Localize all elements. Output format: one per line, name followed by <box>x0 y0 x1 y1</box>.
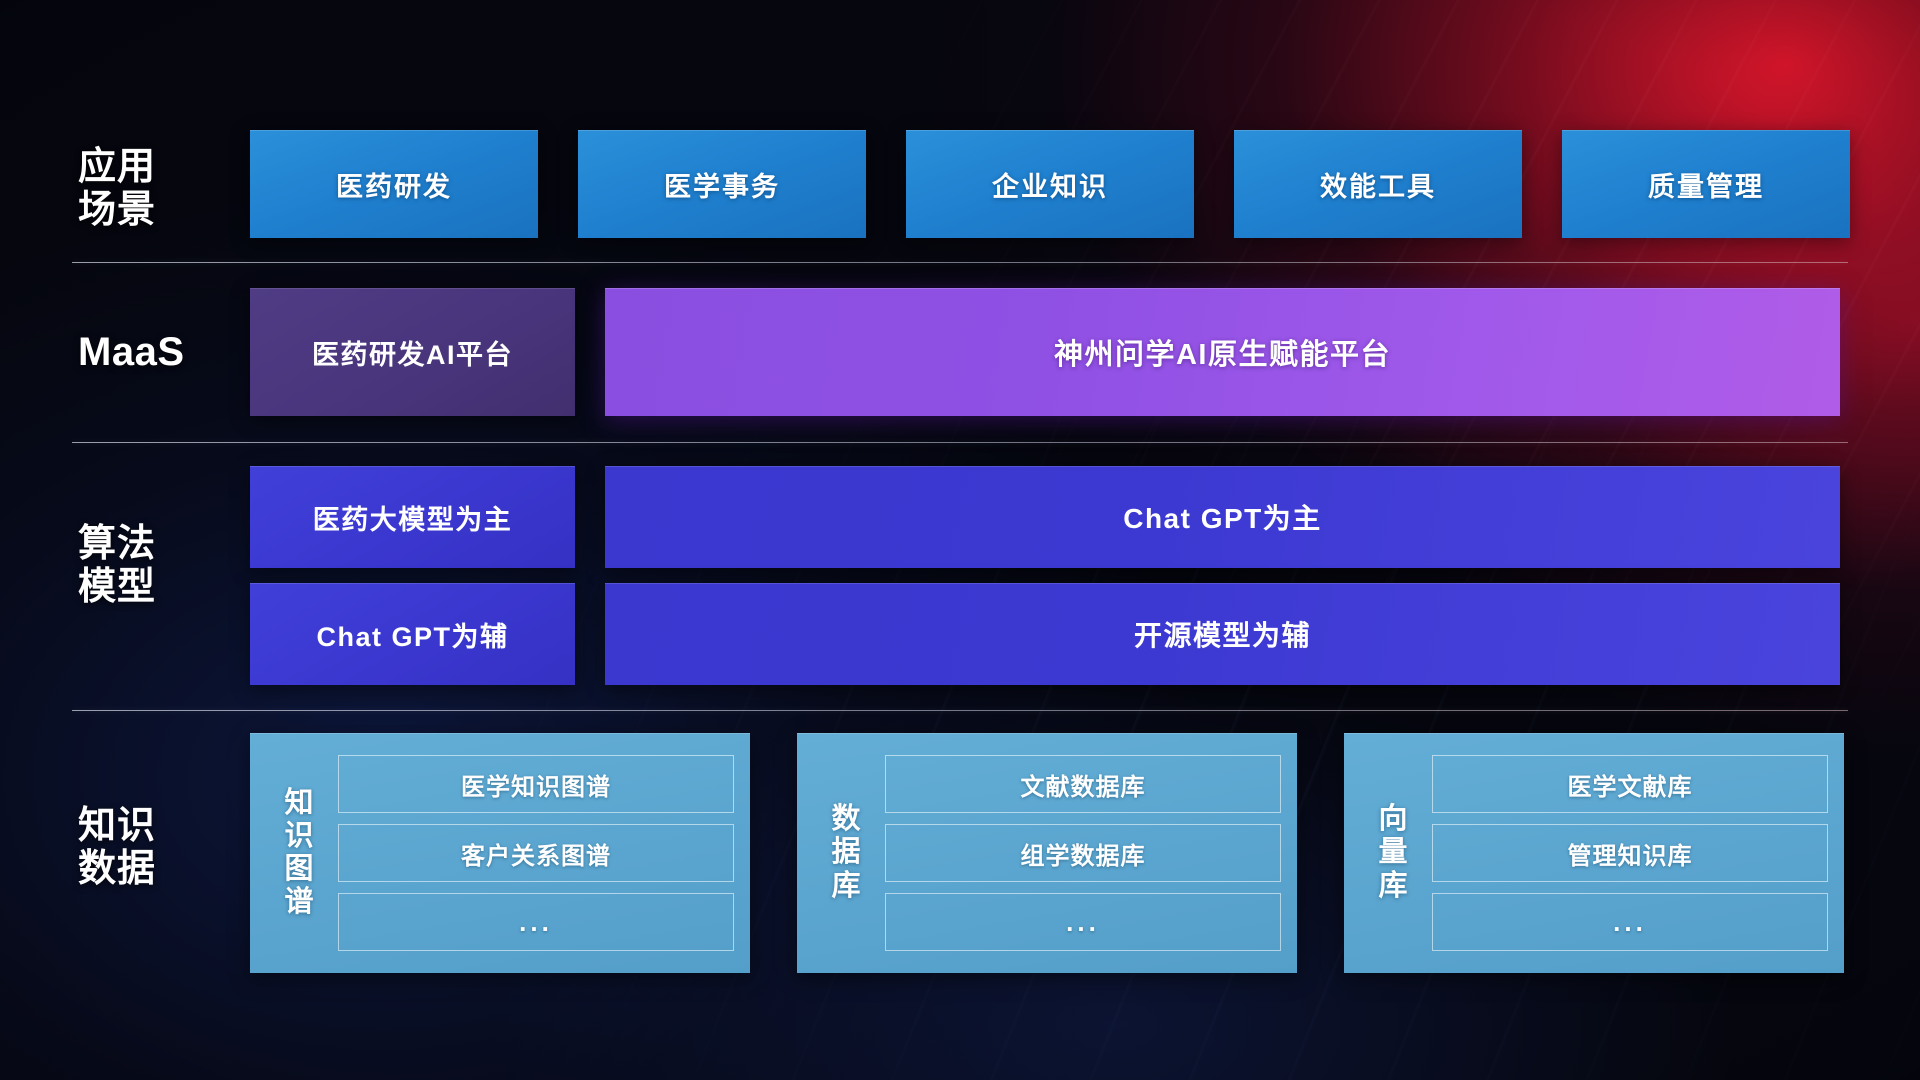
application-box-track: 医药研发 医学事务 企业知识 效能工具 质量管理 <box>250 130 1850 238</box>
knowledge-item-list: 医学文献库 管理知识库 ... <box>1432 747 1828 959</box>
tier-label-line-1: 算法 <box>78 523 210 566</box>
vlabel-char: 据 <box>831 836 860 869</box>
tier-label-algorithm-models: 算法 模型 <box>78 523 210 608</box>
tier-algorithm-models: 算法 模型 医药大模型为主 Chat GPT为主 Chat GPT为辅 开源模型… <box>0 466 1920 688</box>
knowledge-item-literature-database[interactable]: 文献数据库 <box>885 755 1281 813</box>
vlabel-char: 量 <box>1378 836 1407 869</box>
app-box-enterprise-knowledge[interactable]: 企业知识 <box>906 130 1194 238</box>
tier-label-application-scenarios: 应用 场景 <box>78 146 210 231</box>
maas-box-shenzhou-wenxue-platform[interactable]: 神州问学AI原生赋能平台 <box>605 288 1840 416</box>
tier-label-line-1: 知识 <box>78 805 210 848</box>
algo-box-drug-large-model-primary[interactable]: 医药大模型为主 <box>250 466 575 568</box>
knowledge-item-management-knowledge-store[interactable]: 管理知识库 <box>1432 824 1828 882</box>
vlabel-char: 库 <box>831 870 860 903</box>
knowledge-panel-label-knowledge-graph: 知 识 图 谱 <box>260 747 338 959</box>
knowledge-item-list: 文献数据库 组学数据库 ... <box>885 747 1281 959</box>
vlabel-char: 库 <box>1378 870 1407 903</box>
tier-label-maas: MaaS <box>78 330 210 375</box>
tier-label-line-2: 模型 <box>78 566 210 609</box>
vlabel-char: 知 <box>284 787 313 820</box>
knowledge-panel-vector-store: 向 量 库 医学文献库 管理知识库 ... <box>1344 733 1844 973</box>
knowledge-item-medical-knowledge-graph[interactable]: 医学知识图谱 <box>338 755 734 813</box>
knowledge-item-more[interactable]: ... <box>338 893 734 951</box>
vlabel-char: 向 <box>1378 803 1407 836</box>
knowledge-item-list: 医学知识图谱 客户关系图谱 ... <box>338 747 734 959</box>
architecture-diagram: 应用 场景 医药研发 医学事务 企业知识 效能工具 质量管理 MaaS 医药研发… <box>0 0 1920 1080</box>
knowledge-item-more[interactable]: ... <box>885 893 1281 951</box>
divider-algo-knowledge <box>72 710 1848 711</box>
app-box-quality-management[interactable]: 质量管理 <box>1562 130 1850 238</box>
tier-label-knowledge-data: 知识 数据 <box>78 805 210 890</box>
maas-box-drug-rd-ai-platform[interactable]: 医药研发AI平台 <box>250 288 575 416</box>
algo-box-chatgpt-primary[interactable]: Chat GPT为主 <box>605 466 1840 568</box>
tier-maas: MaaS 医药研发AI平台 神州问学AI原生赋能平台 <box>0 288 1920 418</box>
vlabel-char: 谱 <box>284 886 313 919</box>
tier-knowledge-data: 知识 数据 知 识 图 谱 医学知识图谱 客户关系图谱 ... <box>0 733 1920 973</box>
algo-box-chatgpt-secondary[interactable]: Chat GPT为辅 <box>250 583 575 685</box>
vlabel-char: 图 <box>284 853 313 886</box>
knowledge-panel-label-database: 数 据 库 <box>807 747 885 959</box>
tier-application-scenarios: 应用 场景 医药研发 医学事务 企业知识 效能工具 质量管理 <box>0 130 1920 240</box>
divider-apps-maas <box>72 262 1848 263</box>
knowledge-panel-knowledge-graph: 知 识 图 谱 医学知识图谱 客户关系图谱 ... <box>250 733 750 973</box>
knowledge-item-omics-database[interactable]: 组学数据库 <box>885 824 1281 882</box>
algo-box-opensource-model-secondary[interactable]: 开源模型为辅 <box>605 583 1840 685</box>
tier-label-line-2: 数据 <box>78 848 210 891</box>
knowledge-panel-label-vector-store: 向 量 库 <box>1354 747 1432 959</box>
app-box-drug-rd[interactable]: 医药研发 <box>250 130 538 238</box>
vlabel-char: 数 <box>831 803 860 836</box>
app-box-efficiency-tools[interactable]: 效能工具 <box>1234 130 1522 238</box>
vlabel-char: 识 <box>284 820 313 853</box>
tier-label-line-2: 场景 <box>78 189 210 232</box>
app-box-medical-affairs[interactable]: 医学事务 <box>578 130 866 238</box>
knowledge-item-customer-relation-graph[interactable]: 客户关系图谱 <box>338 824 734 882</box>
knowledge-item-more[interactable]: ... <box>1432 893 1828 951</box>
knowledge-panel-database: 数 据 库 文献数据库 组学数据库 ... <box>797 733 1297 973</box>
knowledge-panel-track: 知 识 图 谱 医学知识图谱 客户关系图谱 ... 数 据 库 <box>250 733 1844 973</box>
tier-label-line-1: 应用 <box>78 146 210 189</box>
knowledge-item-medical-literature-store[interactable]: 医学文献库 <box>1432 755 1828 813</box>
divider-maas-algo <box>72 442 1848 443</box>
